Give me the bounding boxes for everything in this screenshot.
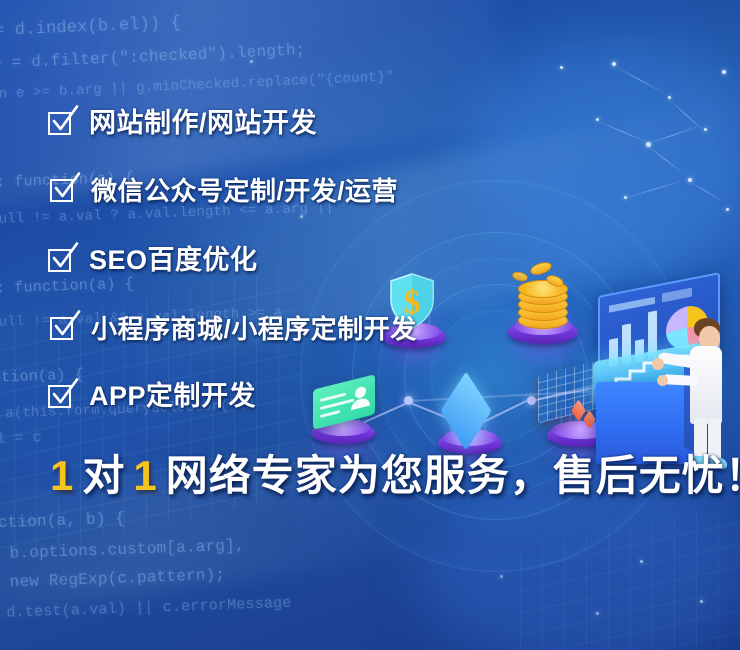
net-dot [596,118,599,121]
net-dot [612,62,616,66]
platform-disc-top [443,429,497,446]
checklist-item-website[interactable]: 网站制作/网站开发 [48,110,317,137]
dashboard-bar [609,338,618,368]
hologram-steps [598,348,702,394]
net-dot [300,215,303,218]
platform-disc [311,422,375,444]
checkbox-checked-icon [48,247,75,274]
net-line [688,180,725,202]
tech-grid-left [0,265,300,565]
bg-code-line: nction(a, b) { [0,510,126,533]
platform-disc [508,320,578,344]
platform-beams [320,401,366,426]
net-line [596,120,648,143]
platform-disc [547,424,615,447]
net-dot [700,600,703,603]
net-dot [250,60,253,63]
bg-code-line: n d.test(a.val) || c.errorMessage [0,595,292,623]
data-cube-icon [583,410,595,429]
checklist-label: SEO百度优化 [89,247,258,274]
checklist-label: 小程序商城/小程序定制开发 [91,316,417,342]
bg-code-line: 1 = c [0,429,42,448]
connection-node [404,396,413,405]
promo-banner: = d.index(b.el)) { e = d.filter(":checke… [0,0,740,650]
net-dot [688,178,692,182]
net-dot [668,96,671,99]
checklist-item-miniprogram[interactable]: 小程序商城/小程序定制开发 [50,315,417,342]
tech-ring-4 [430,310,562,442]
bg-code-line: rn e >= b.arg || g.minChecked.replace("{… [0,69,394,103]
person-head [699,326,720,351]
connection-node [336,428,345,437]
net-dot [726,208,729,211]
bg-code-line: = d.index(b.el)) { [0,14,182,41]
dashboard-header [662,288,692,303]
platform-disc [438,432,502,454]
dashboard-bar [635,339,644,363]
platform-beams [557,402,606,428]
tagline-mid: 对 [82,452,125,499]
tagline-number-second: 1 [133,452,157,499]
platform-disc-top [514,317,573,336]
net-dot [624,196,627,199]
net-dot [646,142,651,147]
net-line [624,179,687,199]
checklist-item-wechat[interactable]: 微信公众号定制/开发/运营 [50,177,398,204]
connection-line [471,400,528,429]
bg-code-line: : function(a) { [0,276,134,298]
server-grid-icon [538,361,598,424]
platform-glow [497,312,589,360]
tagline-number-first: 1 [50,452,74,499]
net-dot [640,560,643,563]
checklist-label: APP定制开发 [89,383,256,410]
cpu-chip-icon [440,372,491,451]
tagline-rest: 网络专家为您服务，售后无忧！ [166,452,740,499]
connection-node [593,393,602,402]
platform-chip [438,432,502,454]
checkbox-checked-icon [48,110,75,137]
checkbox-checked-icon [50,177,77,204]
person-lab-coat [690,346,722,424]
kiosk-hologram-surface [593,342,703,407]
data-cube-icon [571,399,585,421]
tech-ring-5 [300,180,692,572]
platform-coins [508,320,578,344]
kiosk-body-side [684,364,706,457]
checklist-item-app[interactable]: APP定制开发 [48,383,256,410]
connection-node [467,423,476,432]
platform-beams [447,411,493,436]
connection-line [408,390,596,402]
net-line [668,98,707,134]
platform-disc-top [316,419,370,436]
connection-line [340,403,407,434]
person-arm [662,374,698,386]
net-line [612,64,667,95]
net-dot [596,612,599,615]
person-arm [658,352,699,369]
promo-tagline: 1对1网络专家为您服务，售后无忧！ [50,455,740,497]
checklist-item-seo[interactable]: SEO百度优化 [48,247,258,274]
net-dot [722,70,726,74]
checklist-label: 微信公众号定制/开发/运营 [91,178,398,204]
dashboard-header [609,297,655,313]
dashboard-bar [622,323,631,365]
platform-disc-top [552,421,609,439]
haze-right [470,40,740,270]
platform-beams [518,297,568,325]
dashboard-pie-chart [666,302,708,352]
platform-server [547,424,615,447]
checklist-label: 网站制作/网站开发 [89,110,317,137]
connection-line [531,386,598,402]
dashboard-screen [598,272,720,382]
person-hand [652,358,664,370]
bg-code-line: = b.options.custom[a.arg], [0,537,245,564]
checkbox-checked-icon [50,315,77,342]
dashboard-bar [648,310,657,360]
bg-code-line: = new RegExp(c.pattern); [0,566,225,592]
net-line [646,144,684,174]
net-dot [560,66,563,69]
connection-node [527,396,536,405]
net-dot [500,575,503,578]
net-dot [704,128,707,131]
platform-card [311,422,375,444]
person-hair [694,318,720,338]
net-line [646,124,703,144]
bg-code-line: e = d.filter(":checked").length; [0,41,306,73]
person-hand [657,375,668,386]
checkbox-checked-icon [48,383,75,410]
id-card-icon [313,374,375,429]
tech-ring-3 [404,284,588,468]
tech-grid-right [520,492,740,650]
connection-line [408,401,470,428]
